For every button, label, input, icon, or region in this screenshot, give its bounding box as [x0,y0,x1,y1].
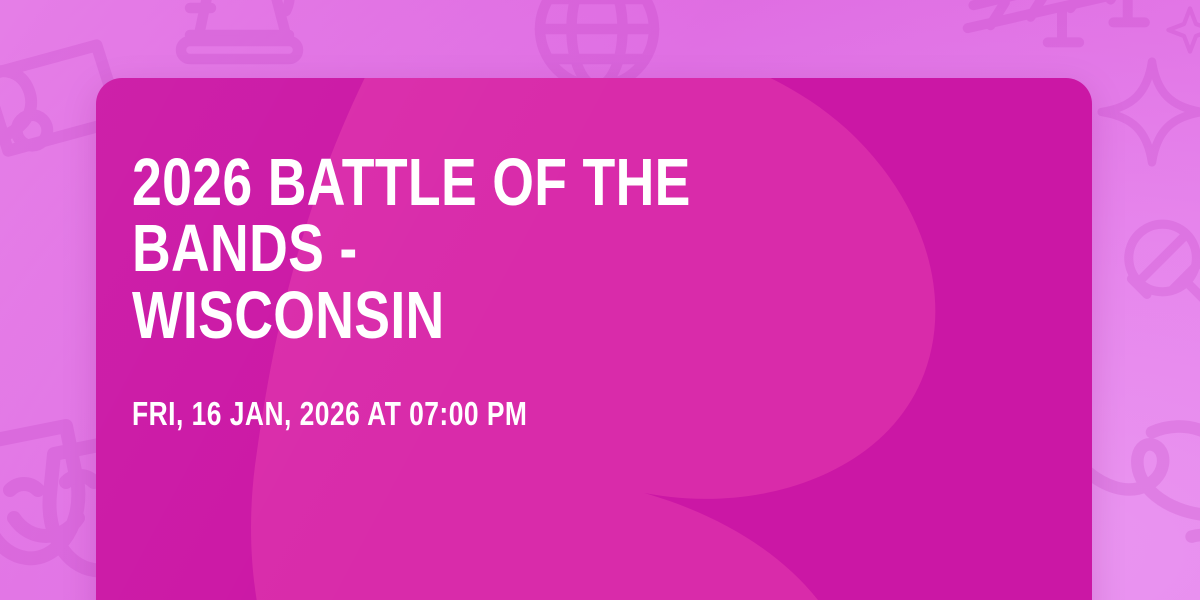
star-icon [1160,0,1200,60]
sparkle-icon [1092,52,1200,172]
swirl-icon [1080,420,1200,600]
event-banner: 2026 Battle of the Bands - Wisconsin Fri… [0,0,1200,600]
event-datetime: Fri, 16 Jan, 2026 at 07:00 PM [132,395,868,433]
event-title: 2026 Battle of the Bands - Wisconsin [132,150,868,349]
event-card-content: 2026 Battle of the Bands - Wisconsin Fri… [132,150,1052,433]
microphone-icon [1108,196,1200,346]
event-card[interactable]: 2026 Battle of the Bands - Wisconsin Fri… [96,78,1092,600]
